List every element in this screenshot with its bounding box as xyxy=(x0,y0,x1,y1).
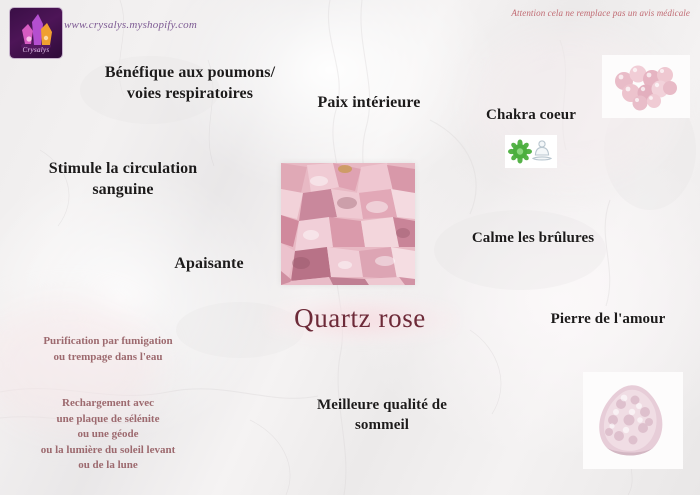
brand-logo[interactable]: Crysalys xyxy=(10,8,62,58)
care-note-rechargement: Rechargement avec une plaque de sélénite… xyxy=(2,396,214,474)
logo-wordmark: Crysalys xyxy=(10,46,62,54)
property-label-paix: Paix intérieure xyxy=(298,92,440,113)
raw-rose-quartz-photo xyxy=(583,372,683,469)
heart-chakra-icon xyxy=(505,135,557,168)
rose-quartz-main-photo xyxy=(281,163,415,285)
medical-disclaimer: Attention cela ne remplace pas un avis m… xyxy=(511,8,690,18)
care-note-purification: Purification par fumigation ou trempage … xyxy=(8,334,208,365)
rose-quartz-infographic: Crysalys www.crysalys.myshopify.com Atte… xyxy=(0,0,700,495)
property-label-poumons: Bénéfique aux poumons/ voies respiratoir… xyxy=(80,62,300,104)
site-url-link[interactable]: www.crysalys.myshopify.com xyxy=(64,19,197,31)
rose-quartz-beads-photo xyxy=(602,55,690,118)
property-label-circulation: Stimule la circulation sanguine xyxy=(14,158,232,200)
property-label-brulures: Calme les brûlures xyxy=(447,229,619,249)
property-label-sommeil: Meilleure qualité de sommeil xyxy=(286,396,478,436)
property-label-amour: Pierre de l'amour xyxy=(522,310,694,330)
page-title: Quartz rose xyxy=(270,303,450,334)
property-label-chakra: Chakra coeur xyxy=(461,106,601,126)
property-label-apaisante: Apaisante xyxy=(148,253,270,274)
